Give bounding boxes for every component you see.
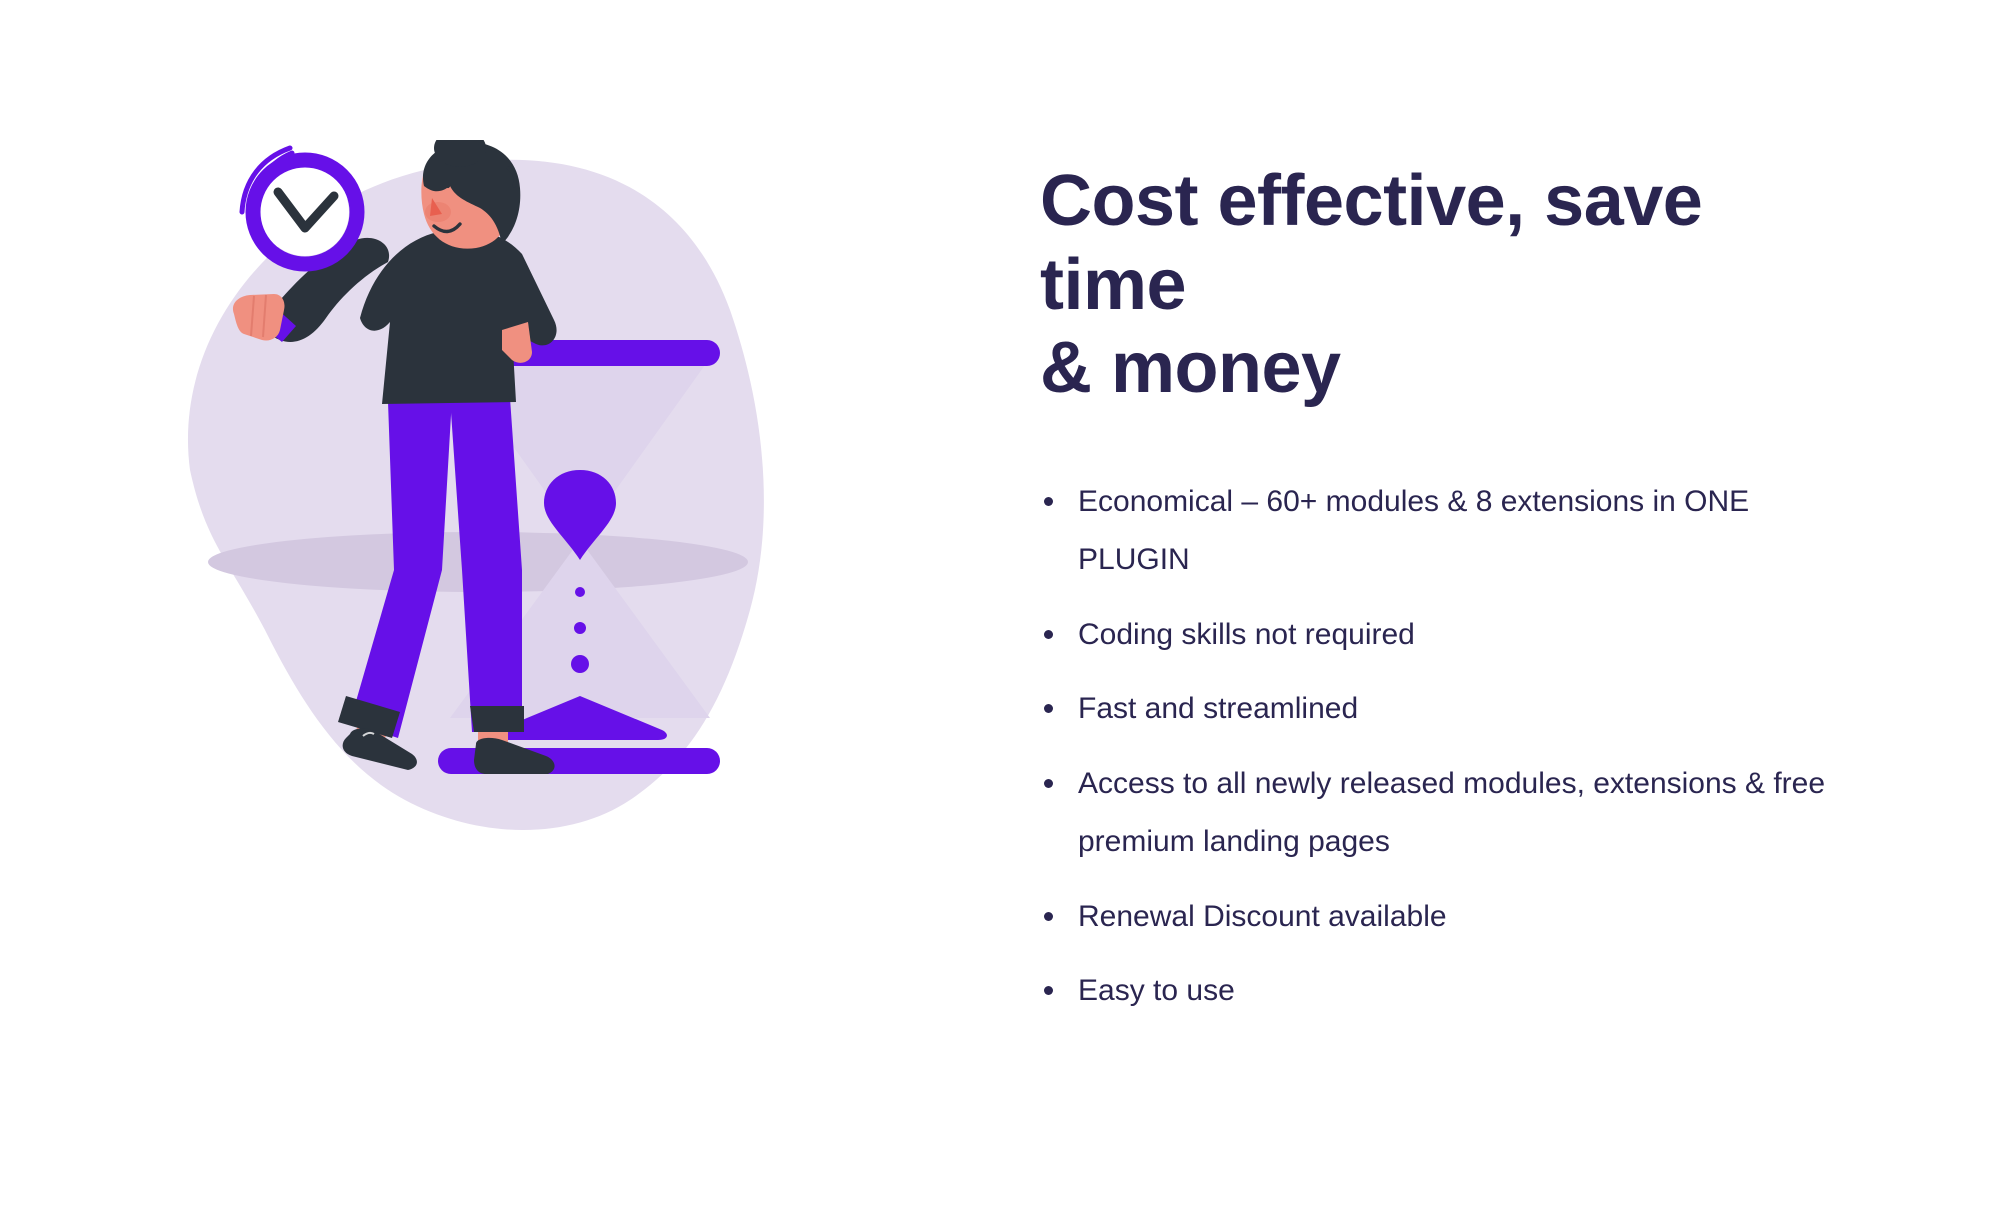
- headline-line-3: & money: [1040, 327, 1840, 411]
- illustration-column: [0, 0, 1010, 1206]
- list-item-label: Economical – 60+ modules & 8 extensions …: [1078, 485, 1749, 577]
- bullet-icon: [1044, 779, 1053, 788]
- bullet-icon: [1044, 704, 1053, 713]
- list-item-label: Fast and streamlined: [1078, 692, 1358, 725]
- page-title: Cost effective, save time & money: [1040, 160, 1840, 411]
- list-item: Coding skills not required: [1040, 606, 1850, 665]
- list-item: Economical – 60+ modules & 8 extensions …: [1040, 473, 1850, 590]
- copy-column: Cost effective, save time & money Econom…: [1010, 0, 2000, 1037]
- bullet-icon: [1044, 986, 1053, 995]
- list-item: Fast and streamlined: [1040, 680, 1850, 739]
- list-item: Access to all newly released modules, ex…: [1040, 755, 1850, 872]
- list-item: Easy to use: [1040, 962, 1850, 1021]
- person-back-pant-cuff: [470, 706, 524, 732]
- feature-list: Economical – 60+ modules & 8 extensions …: [1040, 473, 1850, 1021]
- list-item: Renewal Discount available: [1040, 888, 1850, 947]
- bullet-icon: [1044, 912, 1053, 921]
- sand-dot-medium: [574, 622, 586, 634]
- headline-line-1: Cost effective, save: [1040, 160, 1840, 244]
- list-item-label: Access to all newly released modules, ex…: [1078, 767, 1825, 859]
- list-item-label: Easy to use: [1078, 974, 1235, 1007]
- clock-face: [261, 168, 349, 256]
- sand-dot-large: [571, 655, 589, 673]
- man-with-clock-and-hourglass-illustration: [150, 140, 850, 870]
- headline-line-2: time: [1040, 244, 1840, 328]
- bullet-icon: [1044, 630, 1053, 639]
- list-item-label: Renewal Discount available: [1078, 900, 1447, 933]
- sand-dot-small: [575, 587, 585, 597]
- list-item-label: Coding skills not required: [1078, 618, 1415, 651]
- cost-effective-feature-section: Cost effective, save time & money Econom…: [0, 0, 2000, 1206]
- bullet-icon: [1044, 497, 1053, 506]
